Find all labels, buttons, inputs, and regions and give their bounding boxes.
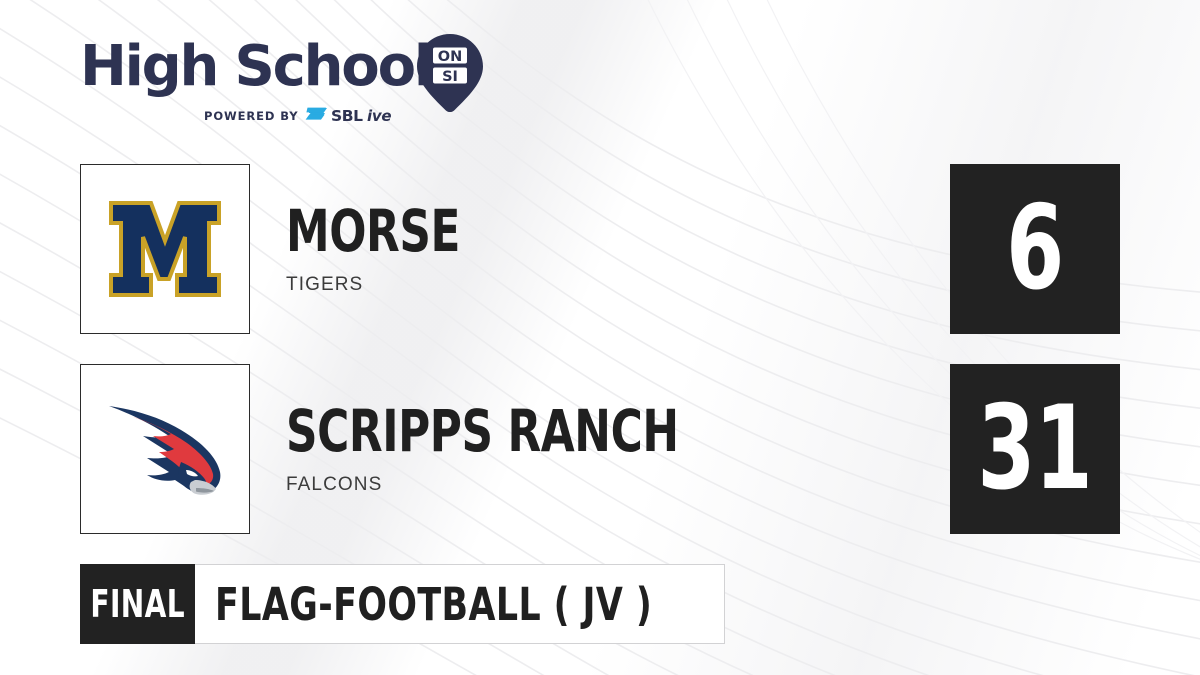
team-logo-card xyxy=(80,364,250,534)
team-identity: MORSE TIGERS xyxy=(286,164,493,334)
svg-text:SI: SI xyxy=(442,69,458,85)
morse-block-m-logo-icon xyxy=(107,197,223,301)
team-score-box: 6 xyxy=(950,164,1120,334)
on-si-pin-icon: ON SI xyxy=(417,34,483,112)
team-identity: SCRIPPS RANCH FALCONS xyxy=(286,364,753,534)
team-score-box: 31 xyxy=(950,364,1120,534)
status-state-label: FINAL xyxy=(90,585,185,623)
svg-text:SBL: SBL xyxy=(331,107,363,125)
brand-header: High School ON SI POWERED BY SBL ive xyxy=(80,36,510,131)
svg-text:ON: ON xyxy=(438,49,462,65)
team-score: 6 xyxy=(1006,191,1063,307)
team-score: 31 xyxy=(978,391,1093,507)
game-status-bar: FINAL FLAG-FOOTBALL ( JV ) xyxy=(80,564,680,644)
team-logo-card xyxy=(80,164,250,334)
scoreboard-graphic: High School ON SI POWERED BY SBL ive xyxy=(0,0,1200,675)
powered-by-group: POWERED BY SBL ive xyxy=(204,106,413,126)
sblive-logo: SBL ive xyxy=(305,106,413,126)
team-mascot: FALCONS xyxy=(286,474,753,496)
team-name: SCRIPPS RANCH xyxy=(286,402,679,460)
team-row: MORSE TIGERS 6 xyxy=(80,164,1120,334)
status-badge: FINAL xyxy=(80,564,195,644)
svg-text:ive: ive xyxy=(367,107,391,125)
team-row: SCRIPPS RANCH FALCONS 31 xyxy=(80,364,1120,534)
team-name: MORSE xyxy=(286,202,460,260)
scripps-ranch-falcon-logo-icon xyxy=(103,396,227,502)
sport-label-panel: FLAG-FOOTBALL ( JV ) xyxy=(195,564,724,644)
team-mascot: TIGERS xyxy=(286,274,493,296)
sport-label: FLAG-FOOTBALL ( JV ) xyxy=(215,582,652,627)
powered-by-label: POWERED BY xyxy=(204,109,298,123)
